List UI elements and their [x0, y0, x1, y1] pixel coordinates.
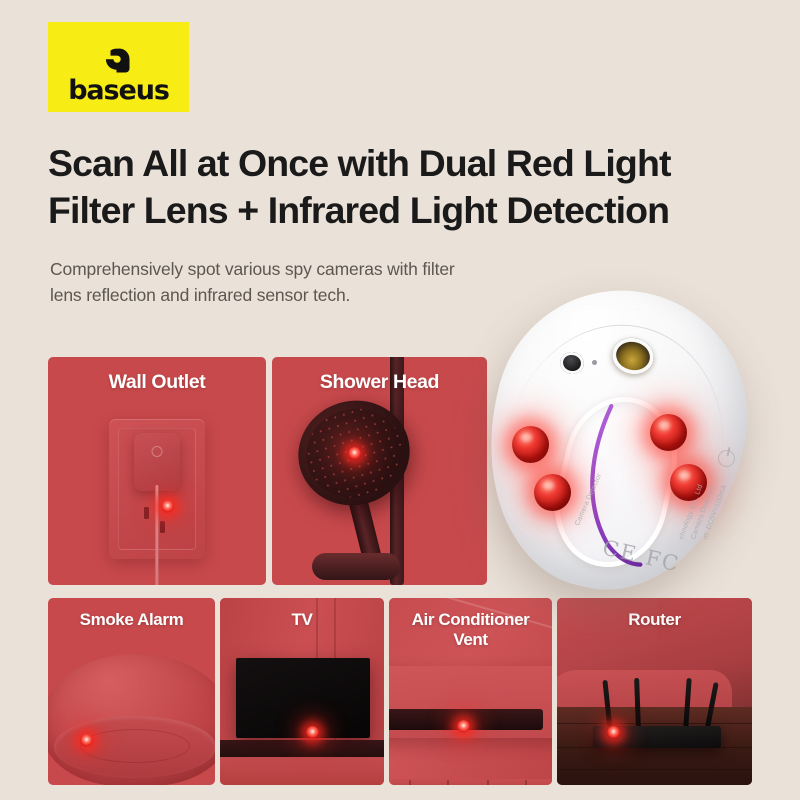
shower-valve [312, 553, 400, 580]
indicator-pinhole-icon [592, 360, 597, 365]
ac-vent-fin [409, 780, 411, 785]
red-light-lamp [512, 426, 549, 463]
scene-card-smoke-alarm: Smoke Alarm [48, 598, 215, 785]
detection-led [457, 720, 470, 733]
tv-screen [236, 658, 370, 738]
ac-vent-fin [447, 780, 449, 785]
ac-vent-fin [487, 780, 489, 785]
detection-led [348, 447, 361, 460]
tv-console [220, 740, 384, 757]
floor-plank-line [557, 769, 752, 770]
scene-card-shower-head: Shower Head [272, 357, 487, 585]
floor-plank-line [557, 723, 752, 724]
outlet-adapter [134, 433, 180, 491]
brand-logo-badge: baseus [48, 22, 189, 112]
headline-line-2: Filter Lens + Infrared Light Detection [48, 187, 748, 234]
brand-name: baseus [68, 77, 169, 104]
subheadline-line-1: Comprehensively spot various spy cameras… [50, 256, 590, 282]
red-light-lamp [650, 414, 687, 451]
detection-led [306, 726, 319, 739]
detection-led [161, 500, 174, 513]
scene-label: Shower Head [272, 371, 487, 394]
scene-label-line-1: Air Conditioner [389, 610, 552, 630]
outlet-cable [155, 485, 158, 585]
outlet-slot-right [160, 521, 165, 533]
scene-label: Smoke Alarm [48, 610, 215, 630]
ac-vent-vane [391, 779, 552, 785]
scene-label: Router [557, 610, 752, 630]
tv-floor [220, 757, 384, 785]
product-camera-detector: CE FC chnology Co., Ltd Camera Detector … [482, 286, 794, 602]
detection-led [607, 726, 620, 739]
scene-card-router: Router [557, 598, 752, 785]
ac-vent-fin [525, 780, 527, 785]
scene-card-tv: TV [220, 598, 384, 785]
scene-label: Wall Outlet [48, 371, 266, 394]
smoke-alarm-label-ring [80, 729, 190, 763]
scene-label: TV [220, 610, 384, 630]
scene-card-air-conditioner-vent: Air Conditioner Vent [389, 598, 552, 785]
red-light-lamp [670, 464, 707, 501]
detection-led [80, 734, 93, 747]
scene-card-wall-outlet: Wall Outlet [48, 357, 266, 585]
outlet-slot-left [144, 507, 149, 519]
red-light-lamp [534, 474, 571, 511]
baseus-b-mark-icon [93, 31, 145, 75]
scene-label: Air Conditioner Vent [389, 610, 552, 650]
headline: Scan All at Once with Dual Red Light Fil… [48, 140, 748, 233]
scene-label-line-2: Vent [389, 630, 552, 650]
ac-unit-body [389, 666, 552, 738]
headline-line-1: Scan All at Once with Dual Red Light [48, 140, 748, 187]
